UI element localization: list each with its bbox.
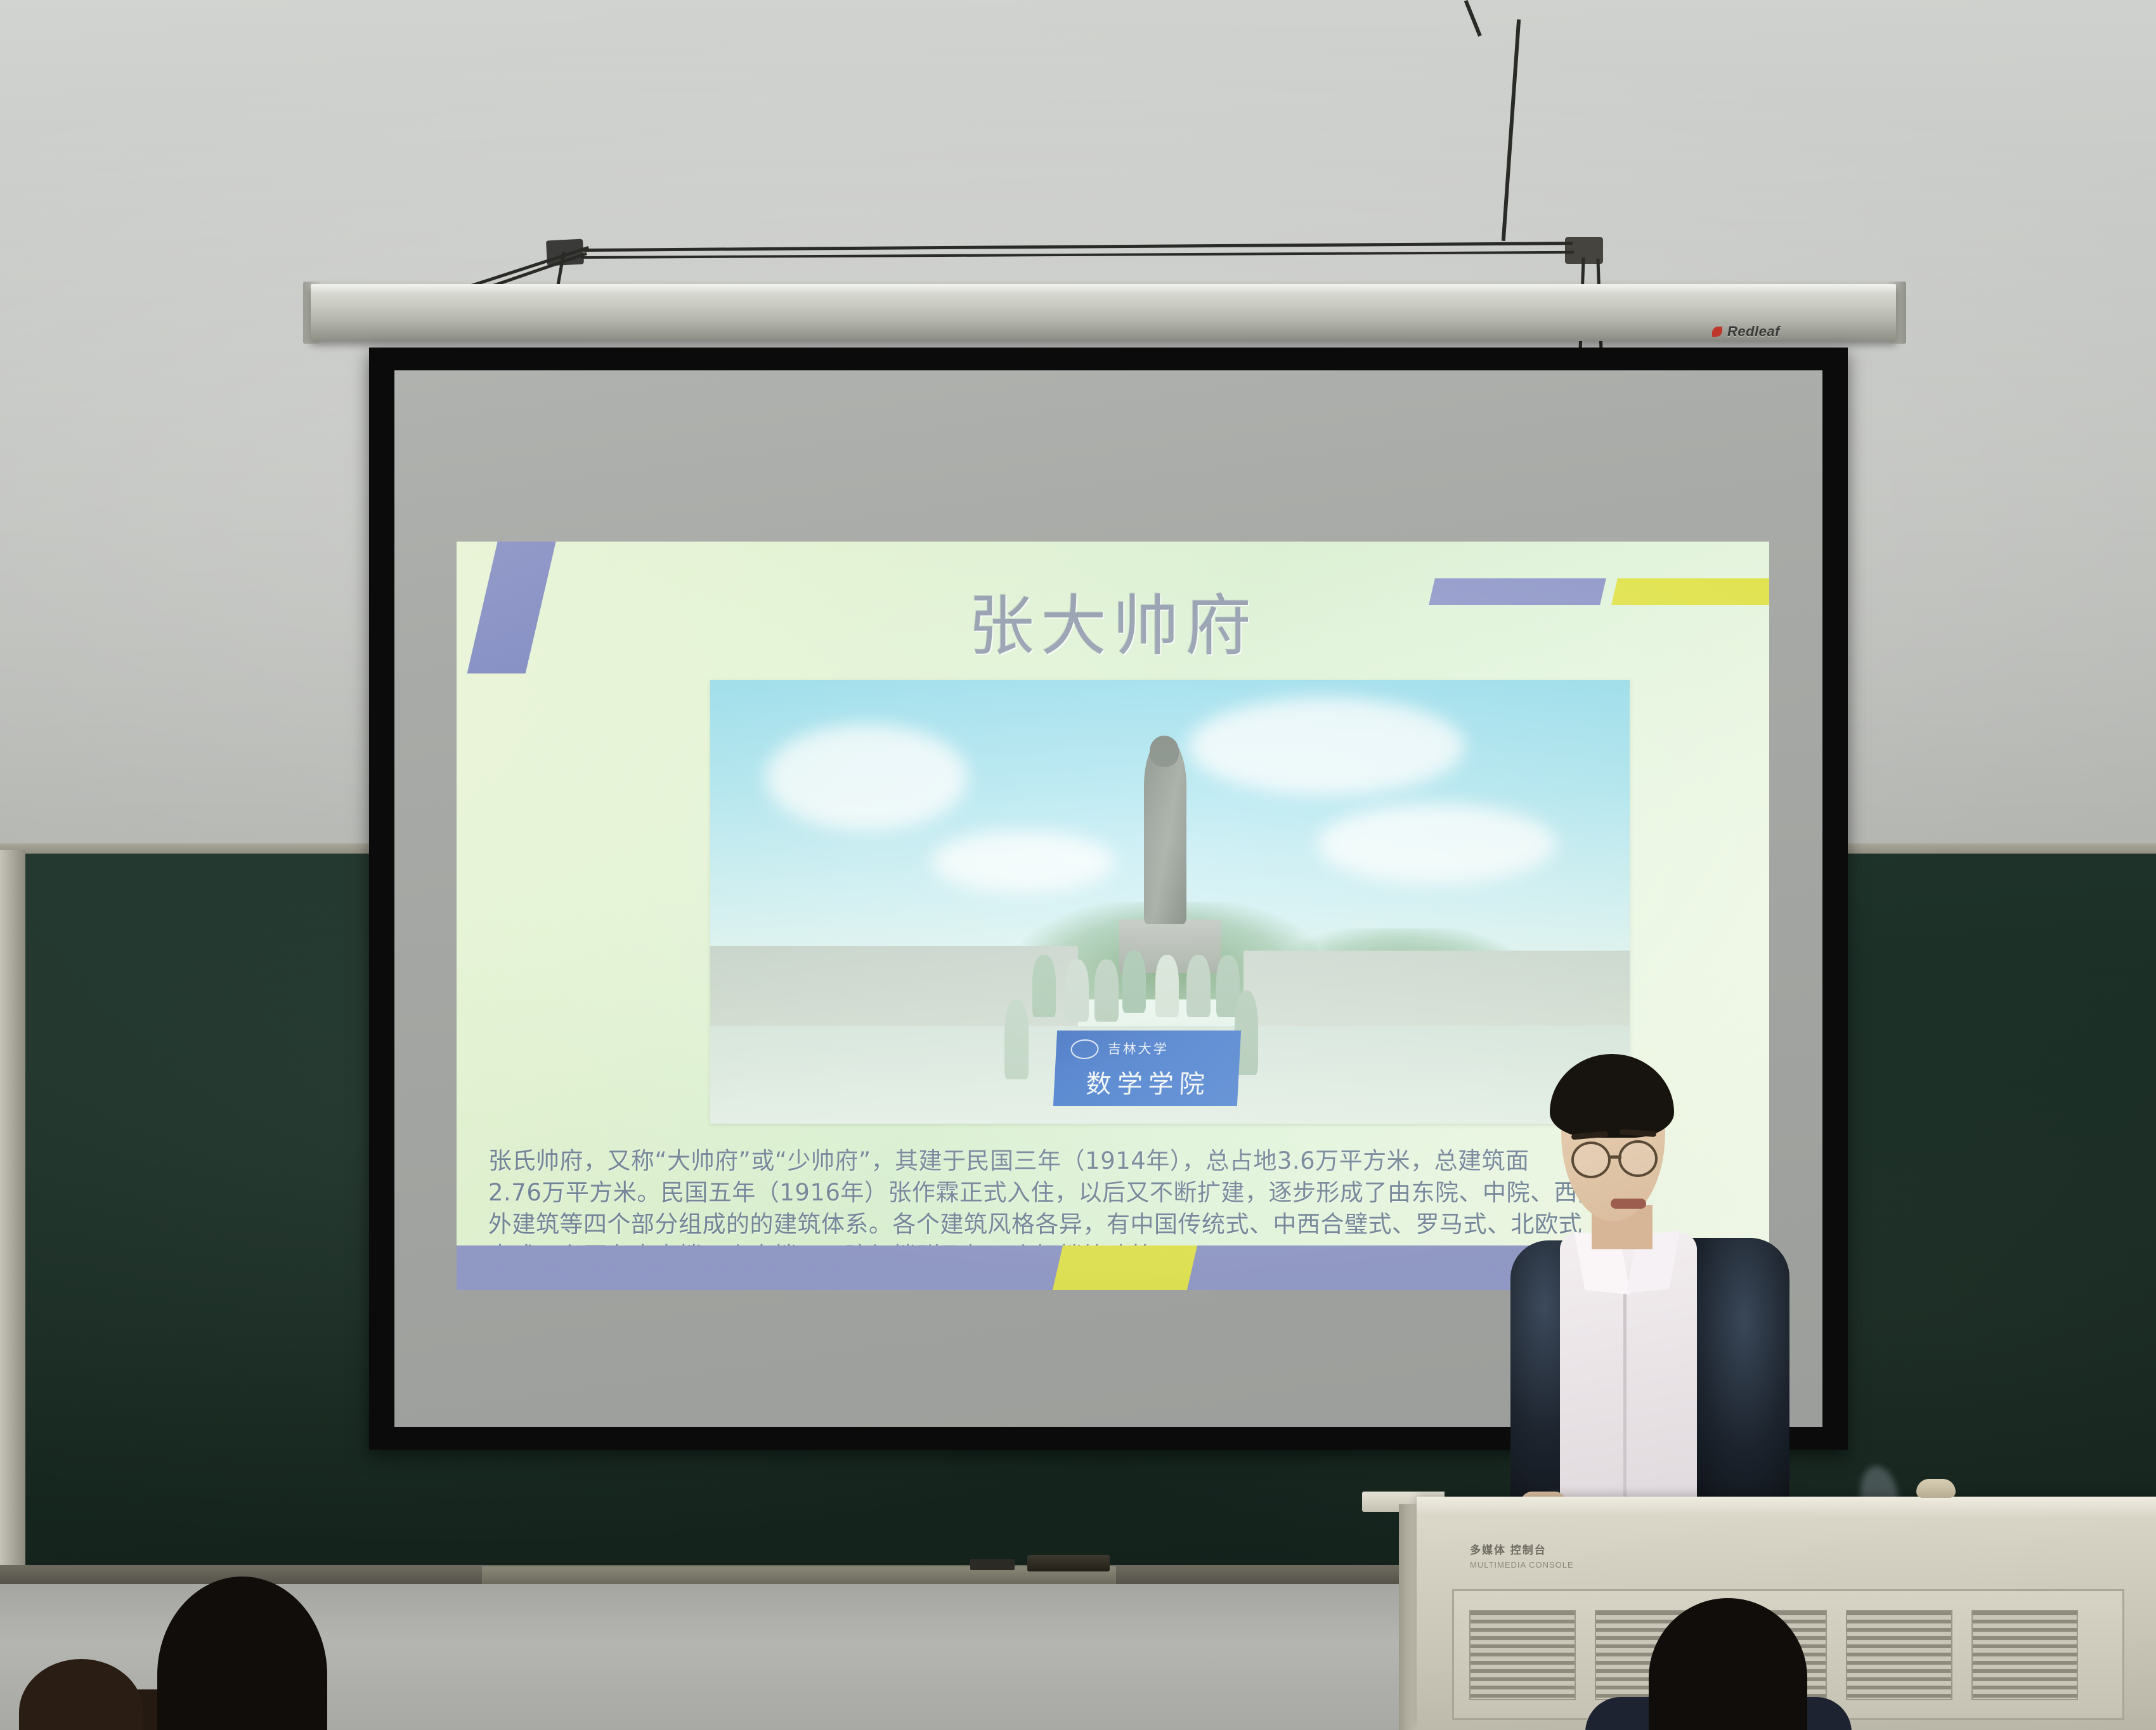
desk-object[interactable]	[1916, 1479, 1956, 1498]
classroom-scene: Redleaf 张大帅府	[0, 0, 2156, 1730]
decoration-bottom-yellow-accent	[1053, 1245, 1197, 1290]
red-leaf-icon	[1712, 327, 1722, 337]
blackboard-eraser[interactable]	[970, 1559, 1015, 1570]
photo-banner: 吉林大学 数学学院	[1053, 1031, 1241, 1106]
photo-person	[1094, 959, 1119, 1022]
presenter	[1510, 1054, 1828, 1511]
presenter-shirt	[1560, 1233, 1697, 1511]
photo-person	[1122, 951, 1146, 1013]
banner-department-name: 数学学院	[1070, 1063, 1226, 1100]
presenter-mouth	[1611, 1199, 1646, 1209]
screen-roller-housing[interactable]	[311, 284, 1896, 341]
console-vent	[1846, 1610, 1952, 1700]
eyeglasses-lens-left	[1571, 1141, 1611, 1178]
screen-brand-label: Redleaf	[1712, 323, 1780, 340]
eyeglasses-lens-right	[1618, 1140, 1658, 1177]
university-seal-icon	[1070, 1039, 1099, 1059]
photo-person	[1186, 955, 1211, 1017]
presenter-hair	[1550, 1054, 1674, 1138]
console-worktop	[1417, 1497, 2156, 1518]
eyeglasses-bridge	[1609, 1155, 1621, 1159]
photo-cloud	[1188, 698, 1464, 795]
blackboard-eraser[interactable]	[1027, 1555, 1110, 1571]
photo-person-kneeling	[1004, 999, 1029, 1079]
photo-cloud	[765, 724, 968, 831]
slide-title: 张大帅府	[457, 572, 1769, 668]
console-sub-label: MULTIMEDIA CONSOLE	[1470, 1560, 1574, 1570]
shirt-placket	[1623, 1277, 1627, 1506]
blackboard-left-frame	[0, 850, 25, 1595]
brand-name: Redleaf	[1727, 323, 1780, 340]
console-vent	[1971, 1610, 2078, 1700]
photo-person	[1065, 959, 1089, 1022]
console-brand-label: 多媒体 控制台	[1470, 1541, 1547, 1557]
photo-cloud	[1317, 804, 1556, 884]
photo-statue-head	[1150, 736, 1179, 767]
banner-university-name: 吉林大学	[1107, 1039, 1222, 1058]
console-vent	[1469, 1610, 1576, 1700]
photo-person	[1032, 955, 1056, 1017]
photo-person	[1155, 955, 1179, 1017]
slide-photo: 吉林大学 数学学院	[710, 680, 1630, 1124]
photo-cloud	[931, 831, 1115, 893]
